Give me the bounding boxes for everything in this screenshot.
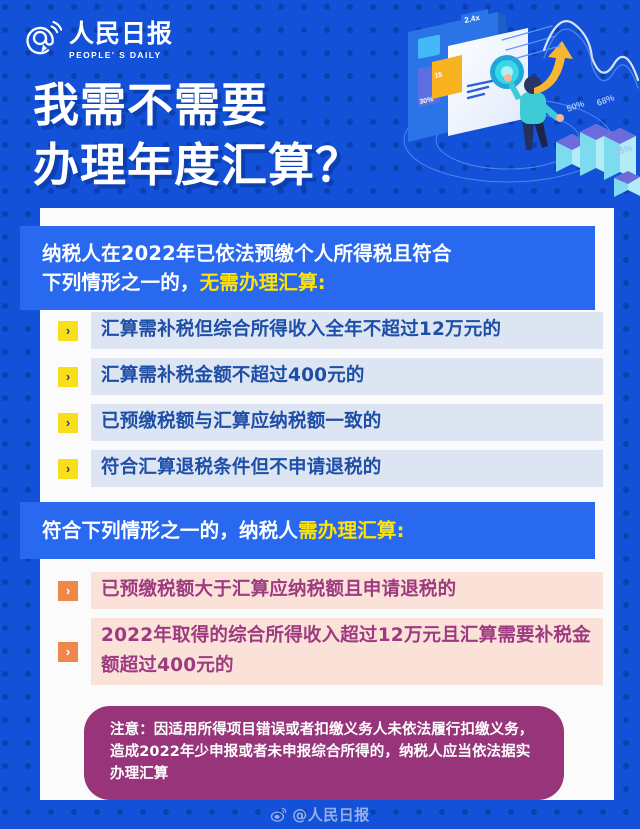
list-item[interactable]: › 汇算需补税金额不超过400元的 (58, 358, 603, 395)
list-item-label: 2022年取得的综合所得收入超过12万元且汇算需要补税金额超过400元的 (91, 618, 603, 685)
list-item-label: 汇算需补税但综合所得收入全年不超过12万元的 (91, 312, 603, 349)
section-2-header-highlight: 需办理汇算: (298, 519, 405, 542)
page-title: 我需不需要 办理年度汇算？ (33, 78, 433, 192)
list-item[interactable]: › 汇算需补税但综合所得收入全年不超过12万元的 (58, 312, 603, 349)
list-item[interactable]: › 2022年取得的综合所得收入超过12万元且汇算需要补税金额超过400元的 (58, 618, 603, 685)
chevron-right-icon: › (58, 459, 78, 479)
section-2-header-text: 符合下列情形之一的，纳税人 (42, 519, 298, 542)
peoples-daily-logo: 人民日报 PEOPLE' S DAILY (24, 18, 194, 62)
chevron-right-icon: › (58, 581, 78, 601)
list-item[interactable]: › 已预缴税额大于汇算应纳税额且申请退税的 (58, 572, 603, 609)
section-1-list: › 汇算需补税但综合所得收入全年不超过12万元的 › 汇算需补税金额不超过400… (58, 312, 603, 496)
list-item[interactable]: › 已预缴税额与汇算应纳税额一致的 (58, 404, 603, 441)
list-item-label: 已预缴税额与汇算应纳税额一致的 (91, 404, 603, 441)
list-item[interactable]: › 符合汇算退税条件但不申请退税的 (58, 450, 603, 487)
chevron-right-icon: › (58, 413, 78, 433)
chevron-right-icon: › (58, 367, 78, 387)
page-title-line2: 办理年度汇算？ (33, 138, 433, 192)
list-item-label: 汇算需补税金额不超过400元的 (91, 358, 603, 395)
section-1-header: 纳税人在2022年已依法预缴个人所得税且符合 下列情形之一的，无需办理汇算: (20, 226, 595, 310)
section-1-header-highlight: 无需办理汇算: (200, 271, 326, 294)
chevron-right-icon: › (58, 321, 78, 341)
logo-title-cn: 人民日报 (69, 21, 173, 47)
isometric-dashboard-analytics-illustration: 30% 15 2.4x (376, 0, 640, 205)
svg-text:50%: 50% (565, 98, 585, 114)
section-1-header-line1: 纳税人在2022年已依法预缴个人所得税且符合 (42, 242, 452, 265)
up-arrow-icon (534, 41, 573, 94)
weibo-icon (270, 806, 287, 823)
section-2-header: 符合下列情形之一的，纳税人需办理汇算: (20, 502, 595, 559)
list-item-label: 符合汇算退税条件但不申请退税的 (91, 450, 603, 487)
section-1-header-line2: 下列情形之一的， (42, 271, 200, 294)
list-item-label: 已预缴税额大于汇算应纳税额且申请退税的 (91, 572, 603, 609)
watermark-label: @人民日报 (292, 804, 370, 825)
chevron-right-icon: › (58, 642, 78, 662)
logo-title-en: PEOPLE' S DAILY (69, 49, 173, 61)
note-box: 注意：因适用所得项目错误或者扣缴义务人未依法履行扣缴义务，造成2022年少申报或… (84, 706, 564, 800)
weibo-watermark: @人民日报 (0, 800, 640, 829)
at-signal-icon (24, 18, 62, 58)
isometric-bar-chart (556, 124, 640, 197)
section-2-list: › 已预缴税额大于汇算应纳税额且申请退税的 › 2022年取得的综合所得收入超过… (58, 572, 603, 694)
svg-text:68%: 68% (595, 92, 615, 108)
page-title-line1: 我需不需要 (33, 78, 433, 132)
